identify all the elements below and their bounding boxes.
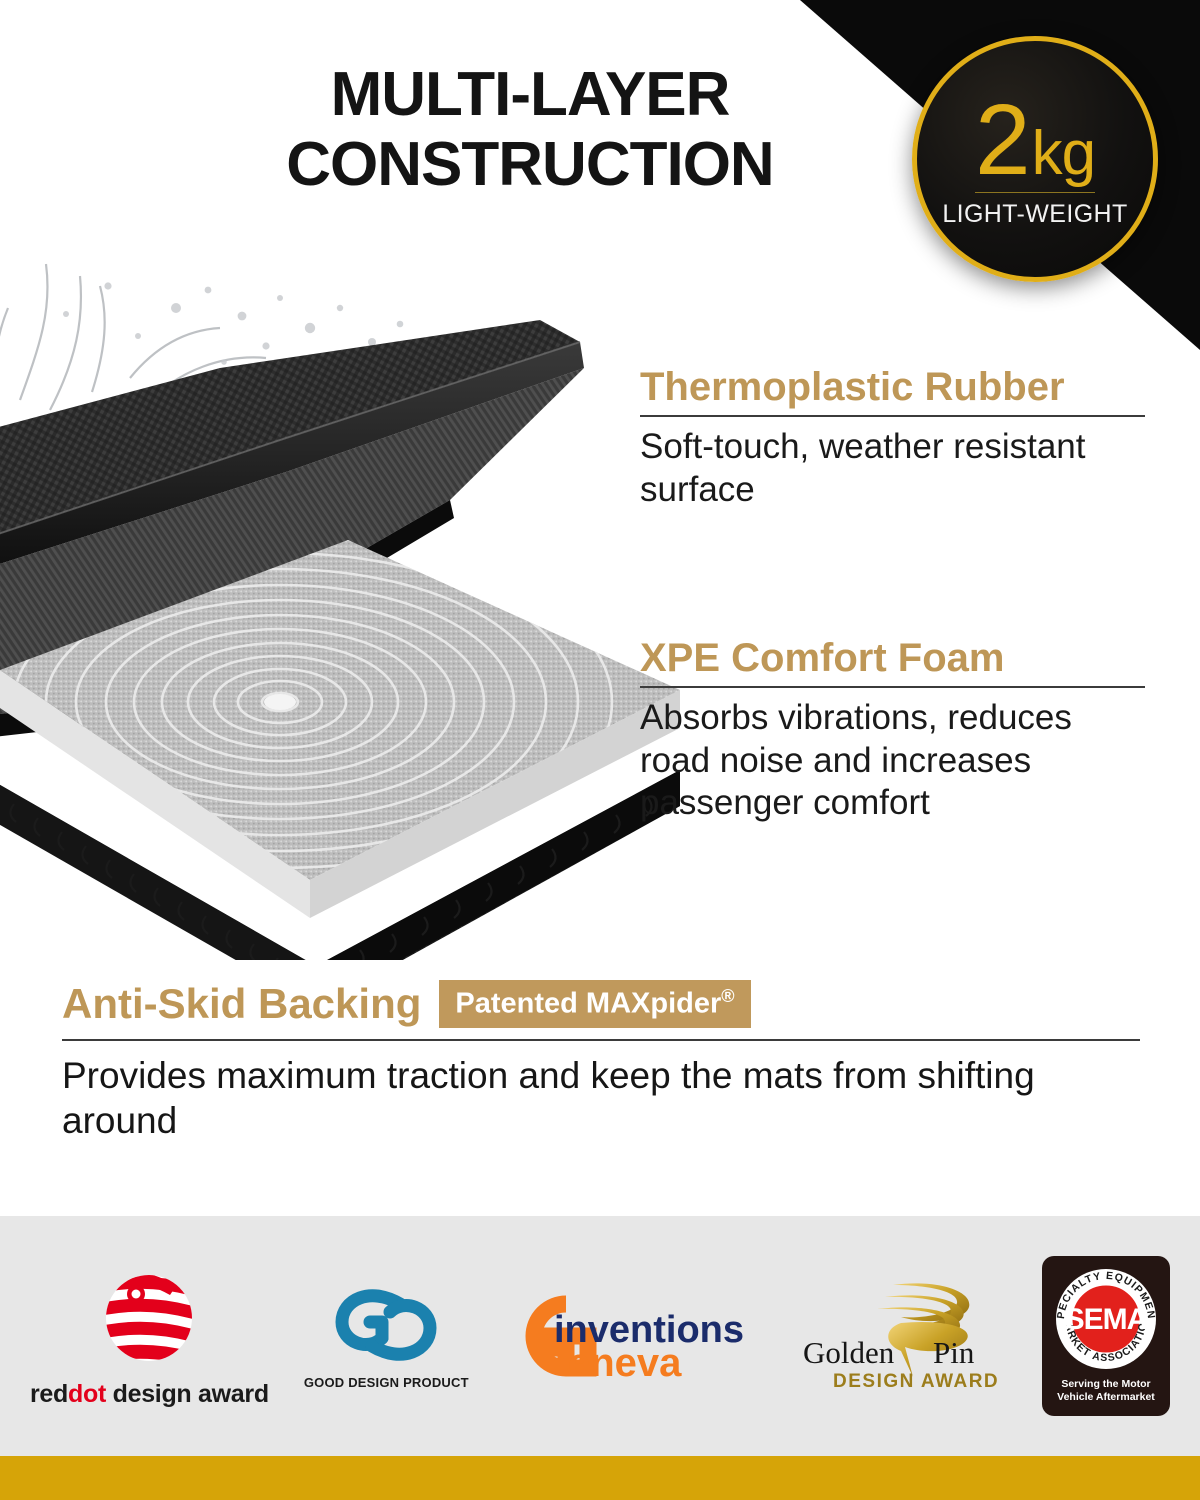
bottom-gold-bar <box>0 1456 1200 1500</box>
golden-text: Golden <box>803 1335 895 1370</box>
reddot-text-rest: design award <box>106 1380 269 1408</box>
light-weight-badge: 2kg LIGHT-WEIGHT <box>912 36 1158 282</box>
badge-number: 2 <box>975 94 1030 186</box>
patent-badge-text: Patented MAXpider <box>455 988 721 1020</box>
awards-band: reddot design award GOOD DESIGN PRODUCT … <box>0 1216 1200 1456</box>
page-title-line-1: MULTI-LAYER <box>210 60 850 130</box>
award-inventions-geneva: inventions eneva <box>504 1290 762 1382</box>
badge-divider <box>975 192 1095 193</box>
infographic-page: 2kg LIGHT-WEIGHT MULTI-LAYER CONSTRUCTIO… <box>0 0 1200 1500</box>
sema-badge: SPECIALTY EQUIPMENT MARKET ASSOCIATION S… <box>1042 1256 1170 1416</box>
badge-unit: kg <box>1032 125 1095 182</box>
feature-heading: Thermoplastic Rubber <box>640 366 1145 408</box>
award-sema: SPECIALTY EQUIPMENT MARKET ASSOCIATION S… <box>1042 1256 1170 1416</box>
sema-tagline-line-2: Vehicle Aftermarket <box>1057 1391 1155 1404</box>
anti-skid-divider <box>62 1039 1140 1041</box>
geneva-text: eneva <box>568 1341 682 1382</box>
reddot-sphere-icon <box>86 1264 212 1376</box>
anti-skid-heading: Anti-Skid Backing <box>62 983 421 1025</box>
design-award-text: DESIGN AWARD <box>833 1371 999 1391</box>
sema-seal-icon: SPECIALTY EQUIPMENT MARKET ASSOCIATION S… <box>1050 1263 1162 1375</box>
feature-xpe-comfort-foam: XPE Comfort Foam Absorbs vibrations, red… <box>640 637 1145 825</box>
sema-tagline-line-1: Serving the Motor <box>1057 1378 1155 1391</box>
feature-body: Soft-touch, weather resistant surface <box>640 426 1145 511</box>
good-design-gd-icon <box>326 1282 446 1372</box>
pin-text: Pin <box>933 1335 975 1370</box>
feature-body: Absorbs vibrations, reduces road noise a… <box>640 697 1145 825</box>
reddot-wordmark: reddot design award <box>30 1380 269 1409</box>
product-layers-illustration <box>0 250 680 960</box>
page-title: MULTI-LAYER CONSTRUCTION <box>210 60 850 200</box>
reddot-text-dot: dot <box>68 1380 106 1408</box>
anti-skid-body: Provides maximum traction and keep the m… <box>62 1053 1144 1144</box>
award-reddot: reddot design award <box>30 1264 269 1409</box>
good-design-wordmark: GOOD DESIGN PRODUCT <box>304 1375 469 1390</box>
badge-weight-value: 2kg <box>975 90 1095 186</box>
sema-tagline: Serving the Motor Vehicle Aftermarket <box>1057 1378 1155 1404</box>
reddot-text-red: red <box>30 1380 68 1408</box>
golden-pin-logo-icon: Golden Pin DESIGN AWARD <box>797 1281 1007 1391</box>
inventions-geneva-logo-icon: inventions eneva <box>504 1290 762 1382</box>
feature-anti-skid-backing: Anti-Skid Backing Patented MAXpider® Pro… <box>62 980 1144 1144</box>
patented-maxpider-badge: Patented MAXpider® <box>439 980 750 1028</box>
feature-divider <box>640 415 1145 417</box>
award-golden-pin: Golden Pin DESIGN AWARD <box>797 1281 1007 1391</box>
registered-trademark-icon: ® <box>721 986 734 1006</box>
page-title-line-2: CONSTRUCTION <box>210 130 850 200</box>
anti-skid-heading-row: Anti-Skid Backing Patented MAXpider® <box>62 980 1144 1028</box>
feature-heading: XPE Comfort Foam <box>640 637 1145 679</box>
sema-wordmark: SEMA <box>1065 1303 1148 1336</box>
badge-label: LIGHT-WEIGHT <box>942 200 1127 229</box>
award-good-design: GOOD DESIGN PRODUCT <box>304 1282 469 1390</box>
feature-thermoplastic-rubber: Thermoplastic Rubber Soft-touch, weather… <box>640 366 1145 511</box>
feature-divider <box>640 686 1145 688</box>
